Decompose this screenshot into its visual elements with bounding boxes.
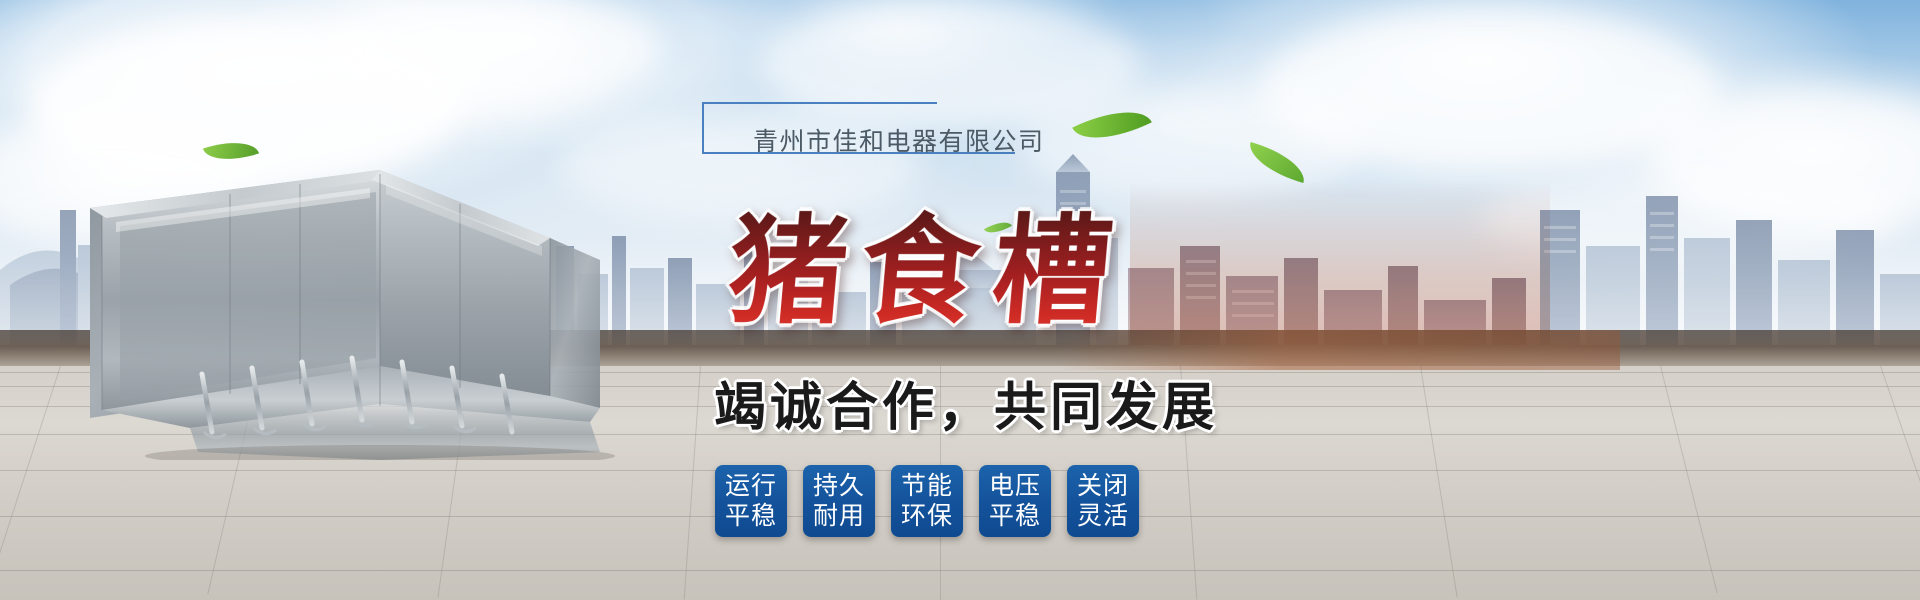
subheadline: 竭诚合作，共同发展 bbox=[714, 365, 1218, 440]
company-name-row: 青州市佳和电器有限公司 bbox=[690, 95, 1250, 165]
company-name: 青州市佳和电器有限公司 bbox=[753, 122, 1045, 158]
ground-warm-tint bbox=[1060, 330, 1620, 370]
feature-badge[interactable]: 电压 平稳 bbox=[979, 465, 1051, 537]
page-title: 猪食槽 bbox=[723, 175, 1134, 346]
badge-line-2: 平稳 bbox=[725, 501, 777, 531]
feature-badge[interactable]: 运行 平稳 bbox=[715, 465, 787, 537]
badge-line-1: 持久 bbox=[813, 471, 865, 501]
promo-banner: 青州市佳和电器有限公司 猪食槽 竭诚合作，共同发展 运行 平稳 持久 耐用 节能… bbox=[0, 0, 1920, 600]
badge-line-2: 灵活 bbox=[1077, 501, 1129, 531]
badge-line-1: 节能 bbox=[901, 471, 953, 501]
badge-line-2: 耐用 bbox=[813, 501, 865, 531]
feature-badge[interactable]: 节能 环保 bbox=[891, 465, 963, 537]
badge-line-1: 关闭 bbox=[1077, 471, 1129, 501]
feature-badge[interactable]: 关闭 灵活 bbox=[1067, 465, 1139, 537]
badge-line-1: 运行 bbox=[725, 471, 777, 501]
product-image-pig-feeder bbox=[80, 160, 640, 460]
skyline-warm-tint bbox=[1130, 180, 1550, 350]
banner-content: 青州市佳和电器有限公司 猪食槽 竭诚合作，共同发展 运行 平稳 持久 耐用 节能… bbox=[690, 95, 1250, 165]
badge-line-2: 环保 bbox=[901, 501, 953, 531]
feature-badge-list: 运行 平稳 持久 耐用 节能 环保 电压 平稳 关闭 灵活 bbox=[715, 465, 1139, 537]
badge-line-1: 电压 bbox=[989, 471, 1041, 501]
badge-line-2: 平稳 bbox=[989, 501, 1041, 531]
feature-badge[interactable]: 持久 耐用 bbox=[803, 465, 875, 537]
